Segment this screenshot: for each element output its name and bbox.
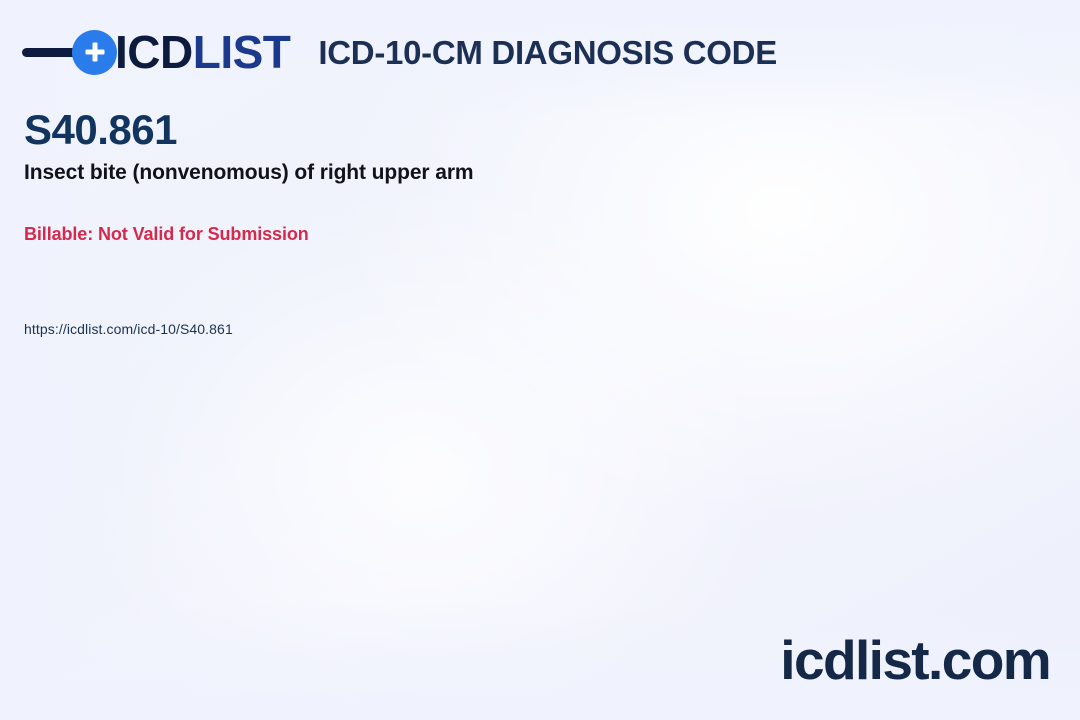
petri-dish-art (220, 225, 820, 715)
brand-logo-word-primary: ICD (115, 29, 193, 75)
icd-code-card: ICD LIST ICD-10-CM DIAGNOSIS CODE S40.86… (0, 0, 1080, 720)
billable-status-badge: Billable: Not Valid for Submission (24, 224, 309, 246)
brand-logo-word-secondary: LIST (193, 29, 291, 75)
heart-shape-art (378, 356, 524, 576)
stethoscope-chestpiece-art (152, 486, 240, 574)
footer-wordmark: icdlist.com (780, 633, 1050, 688)
diagnosis-code: S40.861 (24, 108, 473, 152)
hand-holding-heart-art (624, 381, 923, 638)
header: ICD LIST ICD-10-CM DIAGNOSIS CODE (22, 24, 777, 80)
code-block: S40.861 Insect bite (nonvenomous) of rig… (24, 108, 473, 185)
face-mask-art (529, 58, 1035, 432)
source-url-link[interactable]: https://icdlist.com/icd-10/S40.861 (24, 321, 233, 338)
plus-icon-vertical-bar (92, 43, 97, 62)
diagnosis-description: Insect bite (nonvenomous) of right upper… (24, 160, 473, 185)
brand-logo[interactable]: ICD LIST (22, 24, 290, 80)
plus-icon (72, 30, 117, 75)
page-title: ICD-10-CM DIAGNOSIS CODE (318, 36, 777, 69)
